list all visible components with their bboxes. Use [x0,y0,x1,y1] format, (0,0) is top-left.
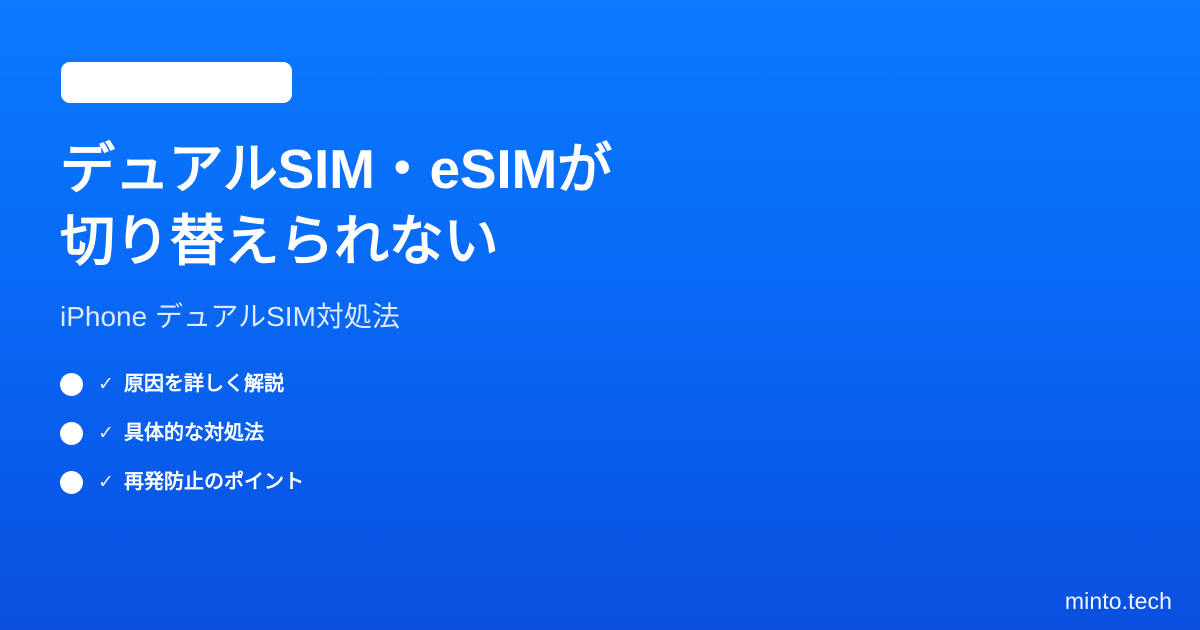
bullet-dot-icon [60,471,83,494]
check-icon: ✓ [95,424,117,443]
list-item-label: 具体的な対処法 [124,423,264,443]
check-icon: ✓ [95,473,117,492]
page-title-line-2: 切り替えられない [60,206,1140,278]
list-item: ✓ 原因を詳しく解説 [60,371,1140,397]
category-badge [61,62,292,103]
check-icon: ✓ [95,375,117,394]
bullet-dot-icon [60,373,83,396]
page-title-line-1: デュアルSIM・eSIMが [60,134,1140,206]
feature-list: ✓ 原因を詳しく解説 ✓ 具体的な対処法 ✓ 再発防止のポイント [60,371,1140,495]
list-item: ✓ 再発防止のポイント [60,469,1140,495]
list-item-label: 原因を詳しく解説 [124,374,284,394]
brand-wordmark: minto.tech [1065,590,1172,613]
bullet-dot-icon [60,422,83,445]
page-subtitle: iPhone デュアルSIM対処法 [60,299,1140,335]
list-item: ✓ 具体的な対処法 [60,420,1140,446]
ogp-card: デュアルSIM・eSIMが 切り替えられない iPhone デュアルSIM対処法… [0,0,1200,630]
page-title: デュアルSIM・eSIMが 切り替えられない [60,134,1140,277]
list-item-label: 再発防止のポイント [124,472,304,492]
